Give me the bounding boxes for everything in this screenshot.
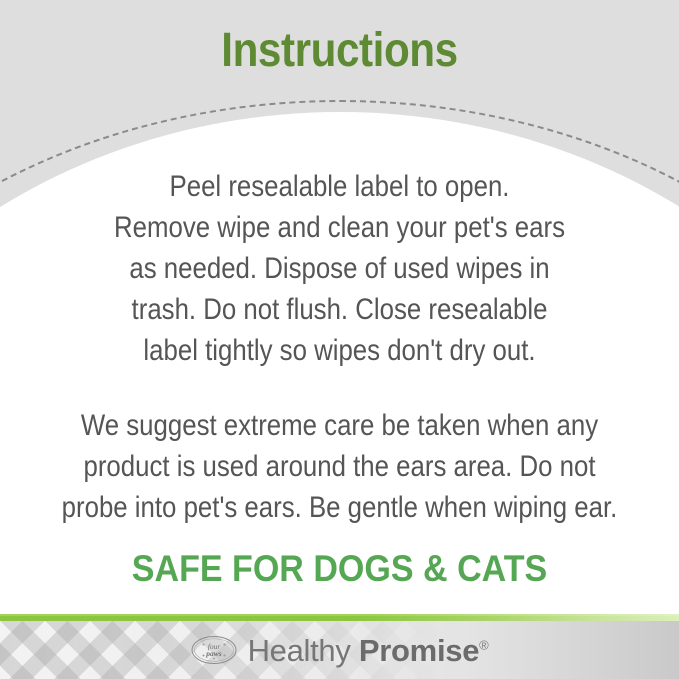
- instructions-paragraph-1: Peel resealable label to open. Remove wi…: [48, 166, 632, 371]
- registered-trademark-mark: ®: [479, 637, 488, 652]
- instruction-line: as needed. Dispose of used wipes in: [48, 248, 632, 289]
- logo-word-paws: paws: [205, 649, 222, 658]
- healthy-promise-wordmark: Healthy Promise®: [248, 635, 489, 666]
- instruction-line: product is used around the ears area. Do…: [48, 446, 632, 487]
- safety-callout: SAFE FOR DOGS & CATS: [27, 548, 652, 590]
- instruction-line: Peel resealable label to open.: [48, 166, 632, 207]
- brand-footer: four paws Healthy Promise®: [0, 614, 679, 679]
- four-paws-logo-icon: four paws: [191, 635, 237, 665]
- wordmark-promise: Promise: [359, 633, 479, 668]
- instruction-line: label tightly so wipes don't dry out.: [48, 330, 632, 371]
- instruction-line: trash. Do not flush. Close resealable: [48, 289, 632, 330]
- instruction-line: Remove wipe and clean your pet's ears: [48, 207, 632, 248]
- instructions-body: Peel resealable label to open. Remove wi…: [0, 166, 679, 528]
- instruction-line: probe into pet's ears. Be gentle when wi…: [48, 487, 632, 528]
- product-label-image: Instructions Peel resealable label to op…: [0, 0, 679, 679]
- instruction-line: We suggest extreme care be taken when an…: [48, 405, 632, 446]
- footer-content: four paws Healthy Promise®: [0, 621, 679, 679]
- footer-green-stripe-highlight: [0, 614, 679, 616]
- wordmark-healthy: Healthy: [248, 633, 351, 668]
- instructions-paragraph-2: We suggest extreme care be taken when an…: [48, 405, 632, 528]
- page-title: Instructions: [41, 26, 639, 76]
